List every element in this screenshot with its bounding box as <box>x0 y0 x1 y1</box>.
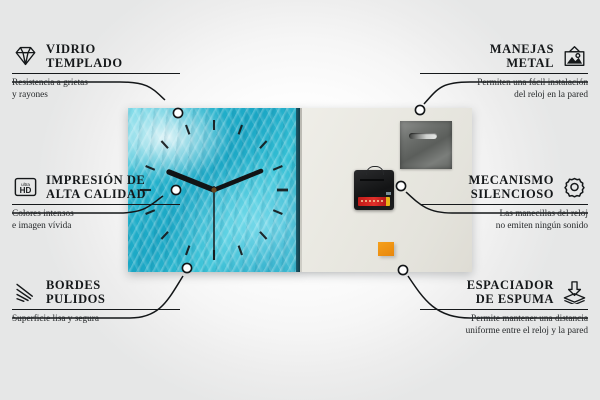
feature-header: MECANISMO SILENCIOSO <box>420 173 588 201</box>
feature-mecanismo-silencioso: MECANISMO SILENCIOSO Las manecillas del … <box>420 173 588 233</box>
feature-divider <box>420 309 588 310</box>
foam-spacer-pad <box>378 242 394 256</box>
feature-header: MANEJAS METAL <box>420 42 588 70</box>
feature-divider <box>12 204 180 205</box>
aa-battery <box>358 197 390 206</box>
polished-edges-icon <box>12 280 39 304</box>
metal-hanger-plate <box>400 121 452 169</box>
panel-seam <box>300 108 302 272</box>
feature-description: Colores intensos e imagen vívida <box>12 209 180 232</box>
feature-bordes-pulidos: BORDES PULIDOS Superficie lisa y segura <box>12 278 180 326</box>
feature-title: MANEJAS METAL <box>490 42 554 70</box>
diamond-icon <box>12 44 39 68</box>
foam-spacer-icon <box>561 280 588 304</box>
ultra-hd-icon: ultra HD <box>12 175 39 199</box>
wall-frame-icon <box>561 44 588 68</box>
feature-description: Permite mantener una distancia uniforme … <box>420 314 588 337</box>
feature-description: Permiten una fácil instalación del reloj… <box>420 78 588 101</box>
feature-header: VIDRIO TEMPLADO <box>12 42 180 70</box>
hanger-slot <box>409 133 437 139</box>
feature-vidrio-templado: VIDRIO TEMPLADO Resistencia a grietas y … <box>12 42 180 102</box>
feature-title: VIDRIO TEMPLADO <box>46 42 123 70</box>
feature-header: ultra HD IMPRESIÓN DE ALTA CALIDAD <box>12 173 180 201</box>
feature-divider <box>12 309 180 310</box>
mechanism-vent <box>360 179 384 181</box>
feature-title: BORDES PULIDOS <box>46 278 105 306</box>
feature-divider <box>420 73 588 74</box>
feature-title: IMPRESIÓN DE ALTA CALIDAD <box>46 173 146 201</box>
feature-description: Superficie lisa y segura <box>12 314 180 326</box>
feature-description: Resistencia a grietas y rayones <box>12 78 180 101</box>
svg-text:HD: HD <box>20 186 32 195</box>
feature-divider <box>420 204 588 205</box>
mechanism-contact <box>386 192 391 195</box>
feature-title: ESPACIADOR DE ESPUMA <box>467 278 554 306</box>
feature-title: MECANISMO SILENCIOSO <box>468 173 554 201</box>
feature-espaciador-espuma: ESPACIADOR DE ESPUMA Permite mantener un… <box>420 278 588 338</box>
gear-icon <box>561 175 588 199</box>
feature-divider <box>12 73 180 74</box>
feature-manejas-metal: MANEJAS METAL Permiten una fácil instala… <box>420 42 588 102</box>
feature-description: Las manecillas del reloj no emiten ningú… <box>420 209 588 232</box>
mechanism-hook <box>366 166 384 175</box>
clock-mechanism <box>354 170 394 210</box>
clock-hands <box>169 171 261 260</box>
infographic-canvas: VIDRIO TEMPLADO Resistencia a grietas y … <box>0 0 600 400</box>
feature-header: ESPACIADOR DE ESPUMA <box>420 278 588 306</box>
feature-header: BORDES PULIDOS <box>12 278 180 306</box>
feature-impresion-alta-calidad: ultra HD IMPRESIÓN DE ALTA CALIDAD Color… <box>12 173 180 233</box>
